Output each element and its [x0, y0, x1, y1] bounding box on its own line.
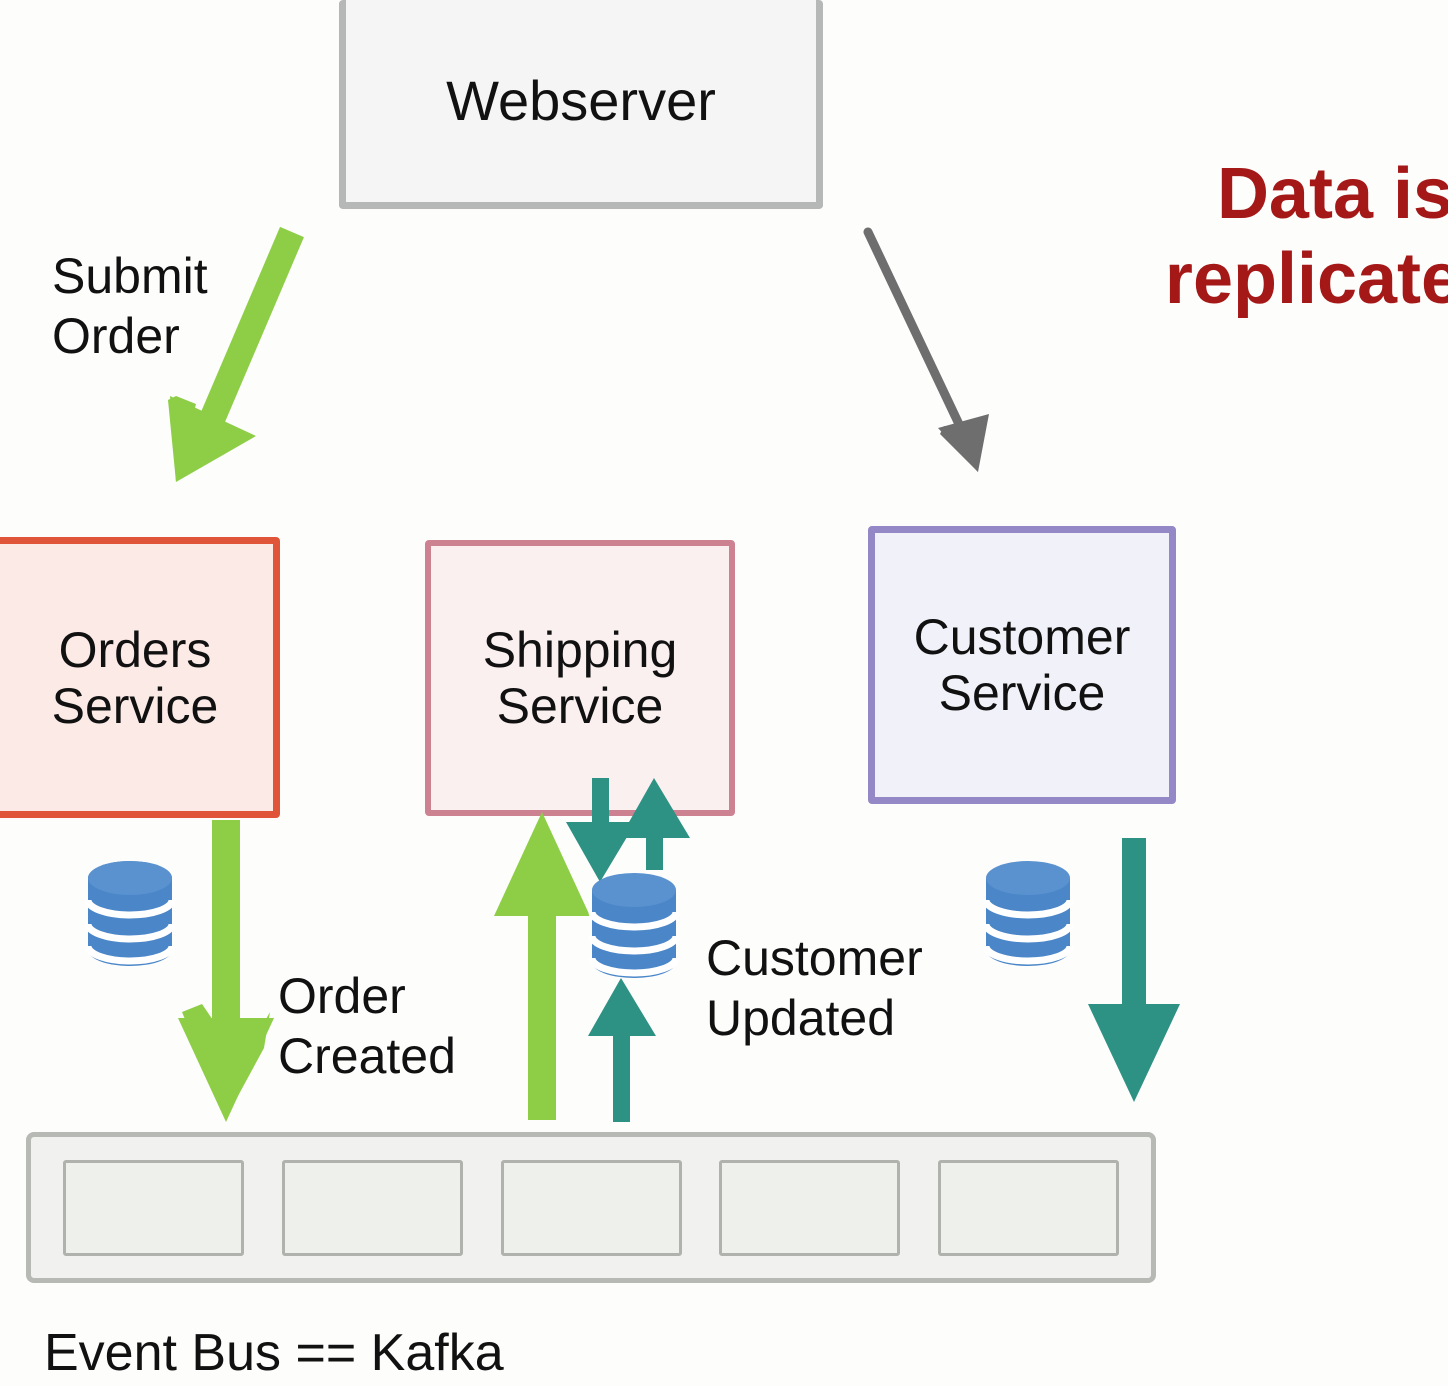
node-shipping-service-label: Shipping Service	[483, 622, 678, 734]
shipping-database-icon	[588, 868, 680, 984]
node-orders-service[interactable]: Orders Service	[0, 537, 280, 818]
arrow-webserver-to-customer	[868, 232, 989, 472]
node-shipping-service[interactable]: Shipping Service	[425, 540, 735, 816]
node-webserver[interactable]: Webserver	[339, 0, 823, 209]
customer-database-icon	[982, 856, 1074, 972]
event-bus-cell[interactable]	[938, 1160, 1119, 1256]
node-orders-service-label: Orders Service	[52, 622, 219, 734]
node-customer-service-label: Customer Service	[914, 609, 1131, 721]
event-bus-cell[interactable]	[63, 1160, 244, 1256]
orders-database-icon	[84, 856, 176, 972]
event-bus-cell[interactable]	[501, 1160, 682, 1256]
annotation-data-is-replicated: Data is replicated	[1125, 152, 1448, 322]
annotation-order-created: Order Created	[278, 966, 456, 1086]
node-webserver-label: Webserver	[446, 70, 716, 133]
event-bus-cell[interactable]	[719, 1160, 900, 1256]
event-bus-cell[interactable]	[282, 1160, 463, 1256]
arrow-customer-updated-up	[588, 978, 656, 1122]
annotation-submit-order: Submit Order	[52, 246, 208, 366]
diagram-canvas: Webserver Orders Service Shipping Servic…	[0, 0, 1448, 1386]
event-bus-caption: Event Bus == Kafka	[44, 1322, 504, 1384]
node-event-bus[interactable]	[26, 1132, 1156, 1283]
node-customer-service[interactable]: Customer Service	[868, 526, 1176, 804]
arrow-customer-to-bus	[1088, 838, 1180, 1102]
arrow-order-created-up	[494, 812, 590, 1120]
arrow-order-created-down	[178, 820, 274, 1122]
annotation-customer-updated: Customer Updated	[706, 928, 923, 1048]
